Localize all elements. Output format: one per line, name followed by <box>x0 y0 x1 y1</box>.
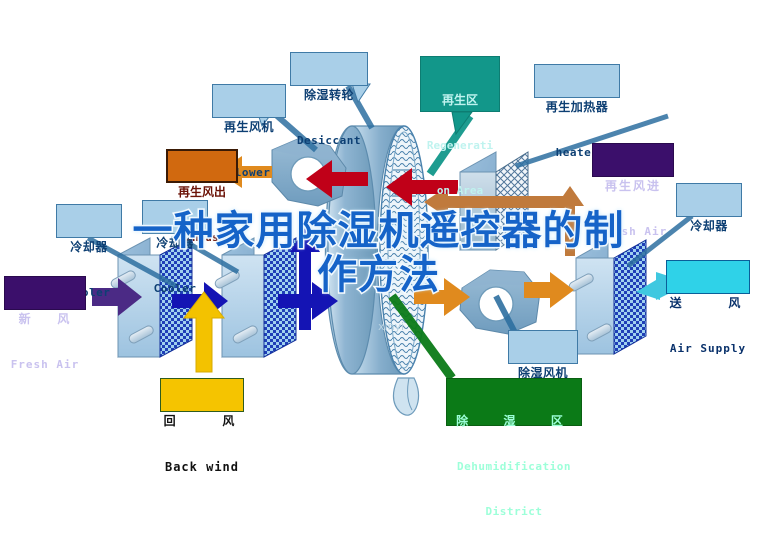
label-air-supply-en: Air Supply <box>667 343 749 355</box>
label-regen-area: 再生区 Regenerati on Area <box>420 56 500 112</box>
label-cooler-right: 冷却器 Cooler <box>676 183 742 217</box>
label-regen-area-en1: Regenerati <box>421 140 499 152</box>
label-desiccant-en: Desiccant <box>291 135 367 147</box>
label-air-supply-cn: 送 风 <box>667 297 749 310</box>
label-cooler-left-2-cn: 冷却器 <box>143 237 207 250</box>
label-back-wind-en: Back wind <box>161 461 243 474</box>
label-air-supply: 送 风 Air Supply <box>666 260 750 294</box>
label-regen-area-cn: 再生区 <box>421 94 499 107</box>
label-cooler-left-1: 冷却器 Cooler <box>56 204 122 238</box>
label-regen-heater: 再生加热器 heater <box>534 64 620 98</box>
label-regen-blower-cn: 再生风机 <box>213 121 285 134</box>
label-regen-blower: 再生风机 Blower <box>212 84 286 118</box>
label-cooler-right-cn: 冷却器 <box>677 220 741 233</box>
label-back-wind-cn: 回 风 <box>161 415 243 428</box>
label-exhaust: 再生风出 Exhaust <box>166 149 238 183</box>
label-dehum-district-en2: District <box>447 506 581 518</box>
label-regen-fresh-air-en: Fresh Air <box>593 226 673 238</box>
label-exhaust-cn: 再生风出 <box>168 186 236 199</box>
label-regen-heater-cn: 再生加热器 <box>535 101 619 114</box>
dehumidifier-schematic: xinyi 除湿转轮 Desiccant 再生风机 Blower 再生区 Reg… <box>0 0 757 488</box>
label-dehum-district-en1: Dehumidification <box>447 461 581 473</box>
label-dehum-district-cn: 除 湿 区 <box>447 415 581 428</box>
label-fresh-air: 新 风 Fresh Air <box>4 276 86 310</box>
label-cooler-left-2: 冷却器 Cooler <box>142 200 208 234</box>
label-cooler-left-2-en: Cooler <box>143 283 207 295</box>
label-regen-fresh-air-cn: 再生风进 <box>593 180 673 193</box>
label-desiccant: 除湿转轮 Desiccant <box>290 52 368 86</box>
label-cooler-left-1-cn: 冷却器 <box>57 241 121 254</box>
label-fresh-air-en: Fresh Air <box>5 359 85 371</box>
label-fresh-air-cn: 新 风 <box>5 313 85 326</box>
label-back-wind: 回 风 Back wind <box>160 378 244 412</box>
label-regen-area-en2: on Area <box>421 185 499 197</box>
watermark-text: xinyi <box>378 320 404 333</box>
label-desiccant-cn: 除湿转轮 <box>291 89 367 102</box>
label-dehum-blower: 除湿风机 Blower <box>508 330 578 364</box>
label-dehumidification-district: 除 湿 区 Dehumidification District <box>446 378 582 426</box>
label-regen-fresh-air: 再生风进 Fresh Air <box>592 143 674 177</box>
